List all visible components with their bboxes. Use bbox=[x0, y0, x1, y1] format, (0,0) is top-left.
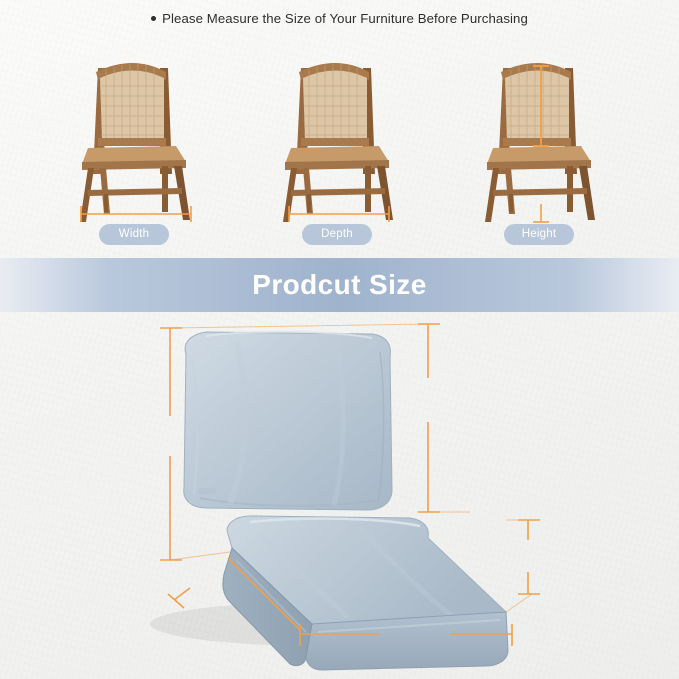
banner-title: Prodcut Size bbox=[0, 258, 679, 312]
chair-illustration-icon bbox=[239, 44, 439, 224]
measure-note-text: Please Measure the Size of Your Furnitur… bbox=[162, 11, 528, 26]
chair-height-label: Height bbox=[504, 224, 574, 245]
chair-height: Height bbox=[441, 44, 641, 254]
cushion-set-icon bbox=[0, 312, 679, 679]
chair-width: Width bbox=[36, 44, 236, 254]
chair-width-label: Width bbox=[99, 224, 169, 245]
cushion-illustration: 27" 21" 6" 24" 24 " 6 Inches bbox=[0, 312, 679, 679]
bullet-dot-icon bbox=[151, 16, 156, 21]
chair-illustration-icon bbox=[36, 44, 236, 224]
chair-illustration-icon bbox=[441, 44, 641, 224]
chair-depth: Depth bbox=[239, 44, 439, 254]
chair-illustrations: Width bbox=[0, 44, 679, 254]
measure-note: Please Measure the Size of Your Furnitur… bbox=[0, 11, 679, 26]
product-size-banner: Prodcut Size bbox=[0, 258, 679, 312]
chair-depth-label: Depth bbox=[302, 224, 372, 245]
product-size-infographic: Please Measure the Size of Your Furnitur… bbox=[0, 0, 679, 679]
